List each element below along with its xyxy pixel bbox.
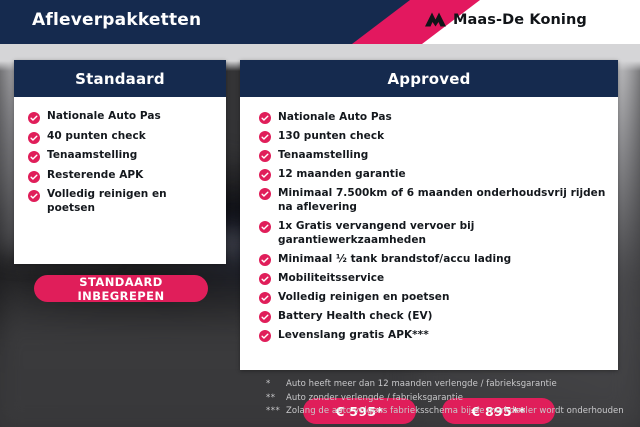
feature-label: Resterende APK xyxy=(47,169,143,183)
list-item: Levenslang gratis APK*** xyxy=(240,328,618,342)
package-card-approved: Approved Nationale Auto Pas 130 punten c… xyxy=(240,60,618,370)
list-item: Battery Health check (EV) xyxy=(240,309,618,323)
card-title-standaard: Standaard xyxy=(75,70,165,88)
feature-list-standaard: Nationale Auto Pas 40 punten check Tenaa… xyxy=(14,97,226,215)
list-item: Resterende APK xyxy=(14,169,226,183)
check-circle-icon xyxy=(259,112,271,124)
footnote-marker: *** xyxy=(266,406,286,417)
feature-label: Minimaal 7.500km of 6 maanden onderhouds… xyxy=(278,186,608,214)
check-circle-icon xyxy=(259,221,271,233)
list-item: 130 punten check xyxy=(240,129,618,143)
feature-label: Volledig reinigen en poetsen xyxy=(47,188,216,215)
feature-label: Minimaal ½ tank brandstof/accu lading xyxy=(278,252,511,266)
list-item: Nationale Auto Pas xyxy=(240,110,618,124)
standaard-inbegrepen-button[interactable]: STANDAARD INBEGREPEN xyxy=(34,275,208,302)
brand-logo: Maas-De Koning xyxy=(424,11,587,29)
page-title: Afleverpakketten xyxy=(32,10,201,30)
footnote-marker: ** xyxy=(266,393,286,404)
list-item: 1x Gratis vervangend vervoer bij garanti… xyxy=(240,219,618,247)
check-circle-icon xyxy=(28,151,40,163)
list-item: 40 punten check xyxy=(14,130,226,144)
list-item: Tenaamstelling xyxy=(240,148,618,162)
brand-name: Maas-De Koning xyxy=(453,12,587,28)
list-item: 12 maanden garantie xyxy=(240,167,618,181)
feature-label: Levenslang gratis APK*** xyxy=(278,328,429,342)
footnote-single-asterisk: * Auto heeft meer dan 12 maanden verleng… xyxy=(266,379,626,390)
maas-de-koning-m-logo-icon xyxy=(424,11,446,29)
check-circle-icon xyxy=(259,169,271,181)
list-item: Volledig reinigen en poetsen xyxy=(14,188,226,215)
list-item: Minimaal ½ tank brandstof/accu lading xyxy=(240,252,618,266)
feature-label: 1x Gratis vervangend vervoer bij garanti… xyxy=(278,219,608,247)
check-circle-icon xyxy=(259,292,271,304)
feature-label: 40 punten check xyxy=(47,130,146,144)
package-card-standaard: Standaard Nationale Auto Pas 40 punten c… xyxy=(14,60,226,264)
header-underline-strip xyxy=(0,44,640,61)
footnote-marker: * xyxy=(266,379,286,390)
list-item: Tenaamstelling xyxy=(14,149,226,163)
feature-label: 12 maanden garantie xyxy=(278,167,406,181)
list-item: Volledig reinigen en poetsen xyxy=(240,290,618,304)
footnote-triple-asterisk: *** Zolang de auto volgens fabrieksschem… xyxy=(266,406,626,417)
check-circle-icon xyxy=(28,112,40,124)
feature-label: Volledig reinigen en poetsen xyxy=(278,290,449,304)
feature-label: 130 punten check xyxy=(278,129,384,143)
check-circle-icon xyxy=(259,254,271,266)
footnote-double-asterisk: ** Auto zonder verlengde / fabrieksgaran… xyxy=(266,393,626,404)
footnote-text: Auto zonder verlengde / fabrieksgarantie xyxy=(286,393,463,404)
card-header-approved: Approved xyxy=(240,60,618,97)
check-circle-icon xyxy=(28,190,40,202)
footnote-text: Auto heeft meer dan 12 maanden verlengde… xyxy=(286,379,557,390)
check-circle-icon xyxy=(259,330,271,342)
check-circle-icon xyxy=(259,273,271,285)
feature-label: Tenaamstelling xyxy=(47,149,137,163)
feature-label: Mobiliteitsservice xyxy=(278,271,384,285)
check-circle-icon xyxy=(259,188,271,200)
afleverpakketten-page: Afleverpakketten Maas-De Koning Standaar… xyxy=(0,0,640,427)
feature-list-approved: Nationale Auto Pas 130 punten check Tena… xyxy=(240,97,618,342)
card-title-approved: Approved xyxy=(387,70,470,88)
list-item: Minimaal 7.500km of 6 maanden onderhouds… xyxy=(240,186,618,214)
check-circle-icon xyxy=(28,171,40,183)
check-circle-icon xyxy=(259,150,271,162)
check-circle-icon xyxy=(259,131,271,143)
footnote-text: Zolang de auto volgens fabrieksschema bi… xyxy=(286,406,624,417)
list-item: Nationale Auto Pas xyxy=(14,110,226,124)
feature-label: Nationale Auto Pas xyxy=(47,110,161,124)
footnotes: * Auto heeft meer dan 12 maanden verleng… xyxy=(266,379,626,420)
feature-label: Battery Health check (EV) xyxy=(278,309,433,323)
check-circle-icon xyxy=(28,132,40,144)
card-header-standaard: Standaard xyxy=(14,60,226,97)
list-item: Mobiliteitsservice xyxy=(240,271,618,285)
feature-label: Nationale Auto Pas xyxy=(278,110,392,124)
page-header: Afleverpakketten Maas-De Koning xyxy=(0,0,640,44)
feature-label: Tenaamstelling xyxy=(278,148,368,162)
check-circle-icon xyxy=(259,311,271,323)
